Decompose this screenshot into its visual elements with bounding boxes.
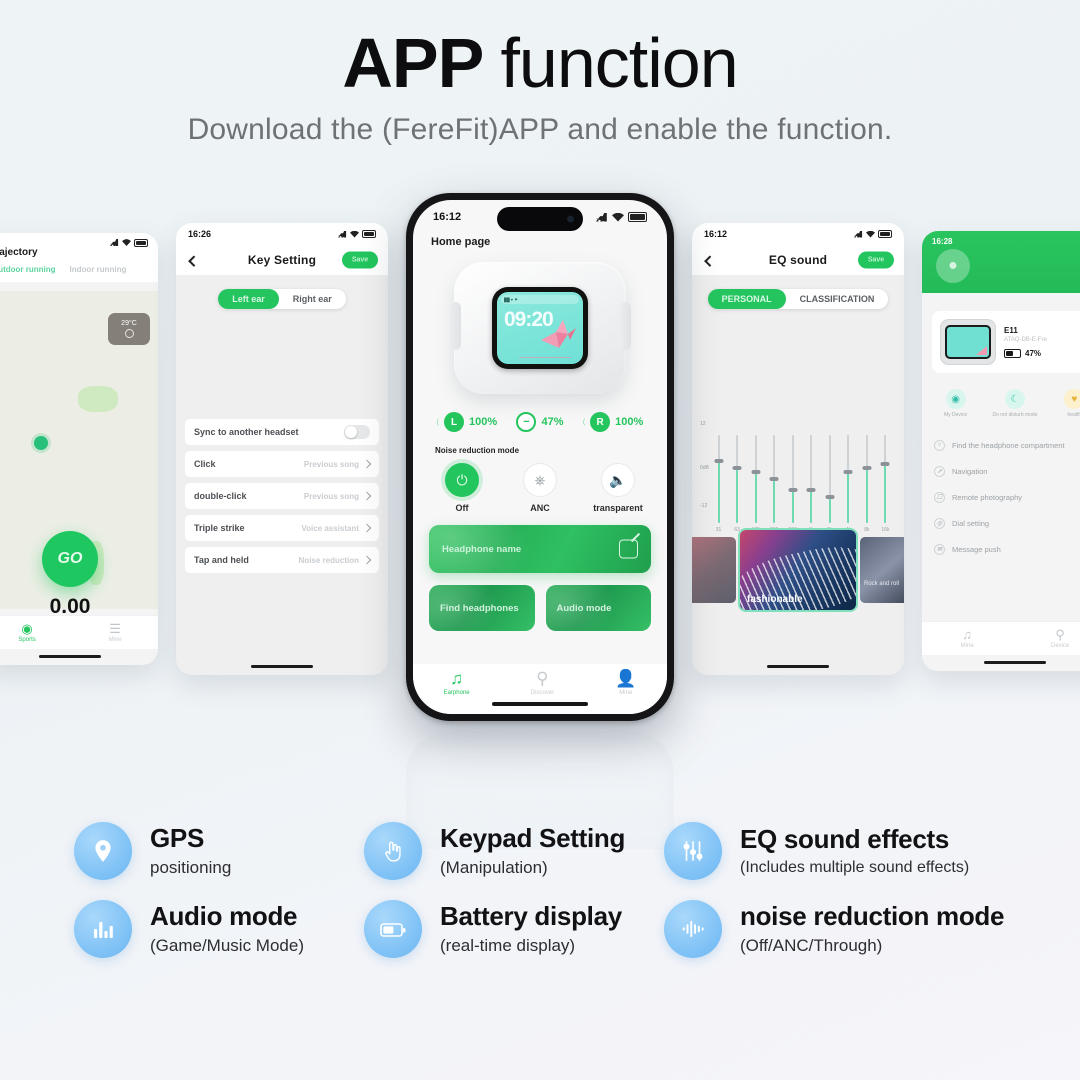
- eq-band-fill: [884, 464, 886, 523]
- eq-band-fill: [718, 461, 720, 523]
- row-label: Click: [194, 459, 216, 469]
- feature-text: Keypad Setting (Manipulation): [440, 824, 625, 878]
- case-display-bezel: ██ ♥ ⚑ 09:20: [492, 287, 588, 369]
- equalizer-sliders-icon: [664, 822, 722, 880]
- device-screen-preview: [945, 325, 991, 359]
- feature-title: Battery display: [440, 902, 622, 932]
- feature-text: Audio mode (Game/Music Mode): [150, 902, 304, 956]
- battery-icon: [362, 230, 376, 238]
- find-headphones-card[interactable]: Find headphones: [429, 585, 535, 631]
- tab-label: Device: [1051, 643, 1069, 649]
- feature-gps: GPS positioning: [74, 822, 364, 880]
- tab-mine[interactable]: ☰ Mine: [109, 622, 122, 643]
- quick-action-health[interactable]: ♥ health: [1048, 389, 1080, 419]
- save-button[interactable]: Save: [342, 252, 378, 269]
- device-battery-percent: 47%: [1025, 349, 1041, 358]
- eq-band-knob[interactable]: [881, 462, 890, 466]
- quick-action-dnd[interactable]: ☾ Do not disturb mode: [989, 389, 1041, 419]
- back-icon[interactable]: [704, 256, 715, 267]
- sun-icon: [125, 329, 134, 338]
- quick-actions[interactable]: ◉ My Device ☾ Do not disturb mode ♥ heal…: [926, 389, 1080, 419]
- gps-heading: trajectory: [0, 247, 148, 258]
- left-earbud-badge: L: [444, 412, 464, 432]
- noise-mode-off[interactable]: ⏻ Off: [430, 463, 494, 513]
- page-title: APP function: [0, 28, 1080, 99]
- eq-segment-control[interactable]: PERSONAL CLASSIFICATION: [692, 289, 904, 309]
- noise-mode-label: Off: [456, 503, 469, 513]
- status-bar: 16:28: [922, 231, 1080, 251]
- phone-device-page: 16:28 ● E11 ATAQ-DB-E-Fre 47%: [922, 231, 1080, 671]
- feature-subtitle: (Game/Music Mode): [150, 936, 304, 956]
- leaf-icon: ◉: [21, 622, 32, 635]
- earbuds-case-illustration[interactable]: ██ ♥ ⚑ 09:20: [454, 262, 626, 394]
- wifi-icon: [350, 231, 359, 238]
- preset-label: fashionable: [747, 594, 803, 605]
- row-label: Triple strike: [194, 523, 245, 533]
- status-time: 16:28: [932, 237, 952, 246]
- row-click[interactable]: Click Previous song: [185, 451, 379, 477]
- list-item[interactable]: ✉ Message push: [932, 537, 1080, 563]
- row-value: Previous song: [304, 492, 359, 501]
- eq-band-list[interactable]: 31631252505001k2k4k8k16k: [714, 423, 890, 533]
- eq-band-knob[interactable]: [770, 477, 779, 481]
- eq-axis-max: 12: [700, 421, 706, 427]
- list-item-label: Message push: [952, 545, 1001, 554]
- gps-tab-outdoor[interactable]: Outdoor running: [0, 265, 56, 274]
- home-indicator: [767, 665, 829, 668]
- feature-audio-mode: Audio mode (Game/Music Mode): [74, 900, 364, 958]
- quick-action-label: health: [1068, 413, 1080, 419]
- eq-band-track[interactable]: [773, 435, 775, 523]
- chevron-right-icon: [363, 556, 371, 564]
- list-item[interactable]: ☐ Remote photography: [932, 485, 1080, 511]
- quick-action-label: My Device: [944, 413, 967, 419]
- device-battery: 47%: [1004, 349, 1047, 358]
- device-icon: ◉: [946, 389, 966, 409]
- eq-band[interactable]: 500: [788, 435, 797, 533]
- battery-icon: [1004, 349, 1021, 358]
- message-icon: ✉: [934, 544, 945, 555]
- row-triple-strike[interactable]: Triple strike Voice assistant: [185, 515, 379, 541]
- eq-band-track[interactable]: [884, 435, 886, 523]
- nav-title: EQ sound: [769, 253, 827, 267]
- right-earbud-badge: R: [590, 412, 610, 432]
- eq-equalizer[interactable]: 12 0dB -12 31631252505001k2k4k8k16k: [702, 423, 894, 533]
- dial-icon: ◎: [934, 518, 945, 529]
- phone-eq-sound: 16:12 EQ sound Save PERSONAL CLASSIFICAT…: [692, 223, 904, 675]
- status-bar: 16:26: [176, 223, 388, 245]
- row-tap-and-hold[interactable]: Tap and held Noise reduction: [185, 547, 379, 573]
- signal-icon: [854, 231, 863, 238]
- tab-discover[interactable]: ⚲ Discover: [531, 670, 554, 696]
- chevron-right-icon: [363, 460, 371, 468]
- device-hero: 16:28 ●: [922, 231, 1080, 293]
- eq-band-fill: [755, 472, 757, 523]
- battery-bracket-icon: (: [583, 419, 585, 426]
- eq-band[interactable]: 1k: [807, 435, 816, 533]
- battery-icon: [364, 900, 422, 958]
- go-button[interactable]: GO: [42, 531, 98, 587]
- list-item[interactable]: ➚ Navigation: [932, 459, 1080, 485]
- status-bar: 16:12: [692, 223, 904, 245]
- page-header: APP function Download the (FereFit)APP a…: [0, 0, 1080, 147]
- feature-eq-sound-effects: EQ sound effects (Includes multiple soun…: [664, 822, 1080, 880]
- page-title-light: function: [500, 24, 737, 102]
- segment-left-ear[interactable]: Left ear: [218, 289, 279, 309]
- origami-crane-icon: [537, 318, 577, 352]
- music-note-icon: ♫: [450, 670, 463, 687]
- dynamic-island: [497, 207, 583, 231]
- feature-battery-display: Battery display (real-time display): [364, 900, 664, 958]
- eq-band-fill: [773, 479, 775, 523]
- feature-subtitle: positioning: [150, 858, 231, 878]
- phone-showcase: ▲ trajectory Outdoor running Indoor runn…: [0, 185, 1080, 745]
- noise-reduction-title: Noise reduction mode: [435, 446, 667, 455]
- battery-row: ( L 100% − 47% ( R 100%: [413, 412, 667, 432]
- home-indicator: [251, 665, 313, 668]
- tab-label: Mine: [619, 690, 632, 696]
- eq-band-track[interactable]: [718, 435, 720, 523]
- eq-band[interactable]: 31: [714, 435, 723, 533]
- eq-band-track[interactable]: [736, 435, 738, 523]
- preset-slide-prev[interactable]: [692, 537, 736, 603]
- noise-mode-label: transparent: [593, 503, 643, 513]
- eq-band-fill: [792, 490, 794, 523]
- action-card-row: Find headphones Audio mode: [429, 585, 651, 631]
- noise-mode-label: ANC: [530, 503, 550, 513]
- headphone-name-card[interactable]: Headphone name: [429, 525, 651, 573]
- feature-text: Battery display (real-time display): [440, 902, 622, 956]
- battery-icon: [878, 230, 892, 238]
- eq-band-knob[interactable]: [844, 470, 853, 474]
- list-item-label: Remote photography: [952, 493, 1022, 502]
- row-value: Previous song: [304, 460, 359, 469]
- map-park-area: [78, 386, 118, 412]
- case-display-status: ██ ♥ ⚑: [501, 295, 579, 304]
- device-settings-list[interactable]: ○ Find the headphone compartment ➚ Navig…: [932, 433, 1080, 563]
- device-model: ATAQ-DB-E-Fre: [1004, 337, 1047, 343]
- feature-title: GPS: [150, 824, 231, 854]
- navigation-icon: ➚: [934, 466, 945, 477]
- phone-key-setting: 16:26 Key Setting Save Left ear Right ea…: [176, 223, 388, 675]
- eq-band[interactable]: 250: [770, 435, 779, 533]
- battery-icon: [628, 212, 647, 222]
- feature-title: EQ sound effects: [740, 825, 969, 855]
- case-display-underline: [519, 357, 571, 359]
- eq-band-track[interactable]: [847, 435, 849, 523]
- quick-action-label: Do not disturb mode: [992, 413, 1037, 419]
- eq-band-fill: [847, 472, 849, 523]
- tab-device[interactable]: ⚲ Device: [1051, 628, 1069, 649]
- tab-mine[interactable]: 👤 Mine: [615, 670, 636, 696]
- feature-subtitle: (Manipulation): [440, 858, 625, 878]
- tab-mine-label: Mine: [109, 637, 122, 643]
- sync-toggle[interactable]: [344, 425, 370, 439]
- row-value: Noise reduction: [299, 556, 359, 565]
- eq-band-fill: [736, 468, 738, 523]
- list-item[interactable]: ○ Find the headphone compartment: [932, 433, 1080, 459]
- list-item-label: Dial setting: [952, 519, 989, 528]
- feature-noise-reduction-mode: noise reduction mode (Off/ANC/Through): [664, 900, 1080, 958]
- search-circle-icon: ○: [934, 440, 945, 451]
- device-card[interactable]: E11 ATAQ-DB-E-Fre 47%: [932, 311, 1080, 373]
- page-title-bold: APP: [342, 24, 482, 102]
- edit-icon[interactable]: [619, 540, 638, 559]
- tab-label: Mine: [961, 643, 974, 649]
- eq-band-knob[interactable]: [807, 488, 816, 492]
- tab-label: Earphone: [444, 690, 470, 696]
- noise-mode-transparent[interactable]: 🔈 transparent: [586, 463, 650, 513]
- find-headphones-label: Find headphones: [440, 603, 519, 614]
- eq-band-fill: [810, 490, 812, 523]
- feature-keypad-setting: Keypad Setting (Manipulation): [364, 822, 664, 880]
- battery-icon: [134, 239, 148, 247]
- case-display: ██ ♥ ⚑ 09:20: [497, 292, 583, 364]
- eq-band-track[interactable]: [829, 435, 831, 523]
- feature-subtitle: (real-time display): [440, 936, 622, 956]
- eq-band-knob[interactable]: [733, 466, 742, 470]
- eq-band[interactable]: 125: [751, 435, 760, 533]
- tab-label: Discover: [531, 690, 554, 696]
- preset-next-label: Rock and roll: [864, 581, 899, 587]
- status-icons: [338, 230, 376, 238]
- wifi-icon: [612, 213, 624, 222]
- bottom-tabbar[interactable]: ♫ Earphone ⚲ Discover 👤 Mine: [413, 664, 667, 714]
- noise-reduction-options[interactable]: ⏻ Off ⎈ ANC 🔈 transparent: [413, 463, 667, 513]
- status-time: 16:26: [188, 229, 211, 239]
- ear-segment-control[interactable]: Left ear Right ear: [176, 289, 388, 309]
- feature-subtitle: (Includes multiple sound effects): [740, 859, 969, 877]
- quick-action-my-device[interactable]: ◉ My Device: [930, 389, 982, 419]
- music-icon: ♫: [962, 628, 972, 641]
- eq-axis-mid: 0dB: [700, 465, 709, 471]
- eq-band[interactable]: 8k: [862, 435, 871, 533]
- gps-header: ▲ trajectory Outdoor running Indoor runn…: [0, 233, 158, 282]
- battery-left: ( L 100%: [437, 412, 497, 432]
- page-subtitle: Download the (FereFit)APP and enable the…: [0, 113, 1080, 147]
- battery-bracket-icon: (: [437, 419, 439, 426]
- tab-sports-label: Sports: [18, 637, 35, 643]
- battery-right: ( R 100%: [583, 412, 643, 432]
- eq-band-knob[interactable]: [862, 466, 871, 470]
- weather-card[interactable]: 29°C: [108, 313, 150, 345]
- eq-band-fill: [866, 468, 868, 523]
- eq-band-knob[interactable]: [825, 495, 834, 499]
- case-badge-icon: −: [516, 412, 536, 432]
- wifi-icon: [122, 239, 131, 246]
- segment-personal[interactable]: PERSONAL: [708, 289, 786, 309]
- person-icon: ☰: [109, 622, 121, 635]
- segment-right-ear[interactable]: Right ear: [279, 289, 346, 309]
- gps-tabbar[interactable]: ◉ Sports ☰ Mine: [0, 615, 158, 649]
- tab-mine[interactable]: ♫ Mine: [961, 628, 974, 649]
- camera-icon: ☐: [934, 492, 945, 503]
- eq-band[interactable]: 16k: [881, 435, 890, 533]
- feature-text: GPS positioning: [150, 824, 231, 878]
- eq-band-knob[interactable]: [714, 459, 723, 463]
- tab-sports[interactable]: ◉ Sports: [18, 622, 35, 643]
- map-location-marker: [34, 436, 48, 450]
- eq-axis-min: -12: [700, 503, 707, 509]
- eq-band-track[interactable]: [755, 435, 757, 523]
- heart-icon: ♥: [1064, 389, 1080, 409]
- compass-icon: ⚲: [536, 670, 548, 687]
- status-icons: [110, 239, 148, 247]
- feature-text: EQ sound effects (Includes multiple soun…: [740, 825, 969, 877]
- off-icon: ⏻: [445, 463, 479, 497]
- preset-slide-next[interactable]: Rock and roll: [860, 537, 904, 603]
- chevron-right-icon: [363, 492, 371, 500]
- right-battery-percent: 100%: [615, 416, 643, 428]
- bar-chart-icon: [74, 900, 132, 958]
- eq-preset-carousel[interactable]: fashionable Rock and roll: [692, 527, 904, 613]
- row-label: double-click: [194, 491, 247, 501]
- row-label: Sync to another headset: [194, 427, 299, 437]
- person-icon: 👤: [615, 670, 636, 687]
- case-battery-percent: 47%: [541, 416, 563, 428]
- eq-band-track[interactable]: [866, 435, 868, 523]
- back-icon[interactable]: [188, 256, 199, 267]
- battery-case: − 47%: [516, 412, 563, 432]
- transparency-icon: 🔈: [601, 463, 635, 497]
- feature-title: Audio mode: [150, 902, 304, 932]
- avatar[interactable]: ●: [936, 249, 970, 283]
- device-name: E11: [1004, 326, 1047, 335]
- tab-earphone[interactable]: ♫ Earphone: [444, 670, 470, 696]
- phone-screen: 16:12 Home page ██ ♥ ⚑ 09:20: [413, 200, 667, 714]
- left-battery-percent: 100%: [469, 416, 497, 428]
- eq-band-knob[interactable]: [751, 470, 760, 474]
- segment-classification[interactable]: CLASSIFICATION: [786, 289, 889, 309]
- tap-hand-icon: [364, 822, 422, 880]
- feature-title: Keypad Setting: [440, 824, 625, 854]
- row-sync-headset[interactable]: Sync to another headset: [185, 419, 379, 445]
- gps-tabs[interactable]: Outdoor running Indoor running: [0, 265, 148, 274]
- nav-bar: Key Setting Save: [176, 245, 388, 275]
- device-meta: E11 ATAQ-DB-E-Fre 47%: [1004, 326, 1047, 358]
- location-pin-icon: [74, 822, 132, 880]
- audio-mode-card[interactable]: Audio mode: [546, 585, 652, 631]
- nav-title: Key Setting: [248, 253, 316, 267]
- noise-mode-anc[interactable]: ⎈ ANC: [508, 463, 572, 513]
- list-item-label: Navigation: [952, 467, 987, 476]
- nav-bar: EQ sound Save: [692, 245, 904, 275]
- row-value: Voice assistant: [301, 524, 359, 533]
- device-tabbar[interactable]: ♫ Mine ⚲ Device: [922, 621, 1080, 655]
- feature-subtitle: (Off/ANC/Through): [740, 936, 1004, 956]
- eq-band-fill: [829, 497, 831, 523]
- phone-home-page: 16:12 Home page ██ ♥ ⚑ 09:20: [406, 193, 674, 721]
- page-title: Home page: [413, 234, 667, 248]
- row-label: Tap and held: [194, 555, 249, 565]
- signal-icon: [338, 231, 347, 238]
- headphone-name-label: Headphone name: [442, 544, 521, 555]
- anc-icon: ⎈: [523, 463, 557, 497]
- status-time: 16:12: [433, 211, 461, 223]
- feature-title: noise reduction mode: [740, 902, 1004, 932]
- phone-gps: ▲ trajectory Outdoor running Indoor runn…: [0, 233, 158, 665]
- wifi-icon: [866, 231, 875, 238]
- search-icon: ⚲: [1055, 628, 1065, 641]
- case-status-text: ██ ♥ ⚑: [504, 297, 518, 302]
- feature-text: noise reduction mode (Off/ANC/Through): [740, 902, 1004, 956]
- signal-icon: [596, 213, 608, 222]
- status-icons: [854, 230, 892, 238]
- home-indicator: [39, 655, 101, 658]
- waveform-icon: [664, 900, 722, 958]
- home-indicator: [492, 702, 588, 706]
- crane-icon: [976, 346, 987, 355]
- audio-mode-label: Audio mode: [557, 603, 612, 614]
- feature-list: GPS positioning Keypad Setting (Manipula…: [0, 822, 1080, 958]
- signal-icon: [110, 239, 119, 246]
- eq-band-track[interactable]: [810, 435, 812, 523]
- gps-tab-indoor[interactable]: Indoor running: [70, 265, 127, 274]
- weather-temp: 29°C: [121, 320, 137, 327]
- device-case-image: [940, 319, 996, 365]
- eq-band[interactable]: 2k: [825, 435, 834, 533]
- preset-slide-current[interactable]: fashionable: [740, 530, 856, 610]
- eq-band[interactable]: 4k: [844, 435, 853, 533]
- status-icons: [596, 212, 647, 222]
- home-indicator: [984, 661, 1046, 664]
- save-button[interactable]: Save: [858, 252, 894, 269]
- moon-icon: ☾: [1005, 389, 1025, 409]
- chevron-right-icon: [363, 524, 371, 532]
- status-time: 16:12: [704, 229, 727, 239]
- list-item[interactable]: ◎ Dial setting: [932, 511, 1080, 537]
- row-double-click[interactable]: double-click Previous song: [185, 483, 379, 509]
- eq-band-knob[interactable]: [788, 488, 797, 492]
- key-setting-rows: Sync to another headset Click Previous s…: [185, 419, 379, 579]
- eq-band-track[interactable]: [792, 435, 794, 523]
- eq-band[interactable]: 63: [733, 435, 742, 533]
- list-item-label: Find the headphone compartment: [952, 441, 1065, 450]
